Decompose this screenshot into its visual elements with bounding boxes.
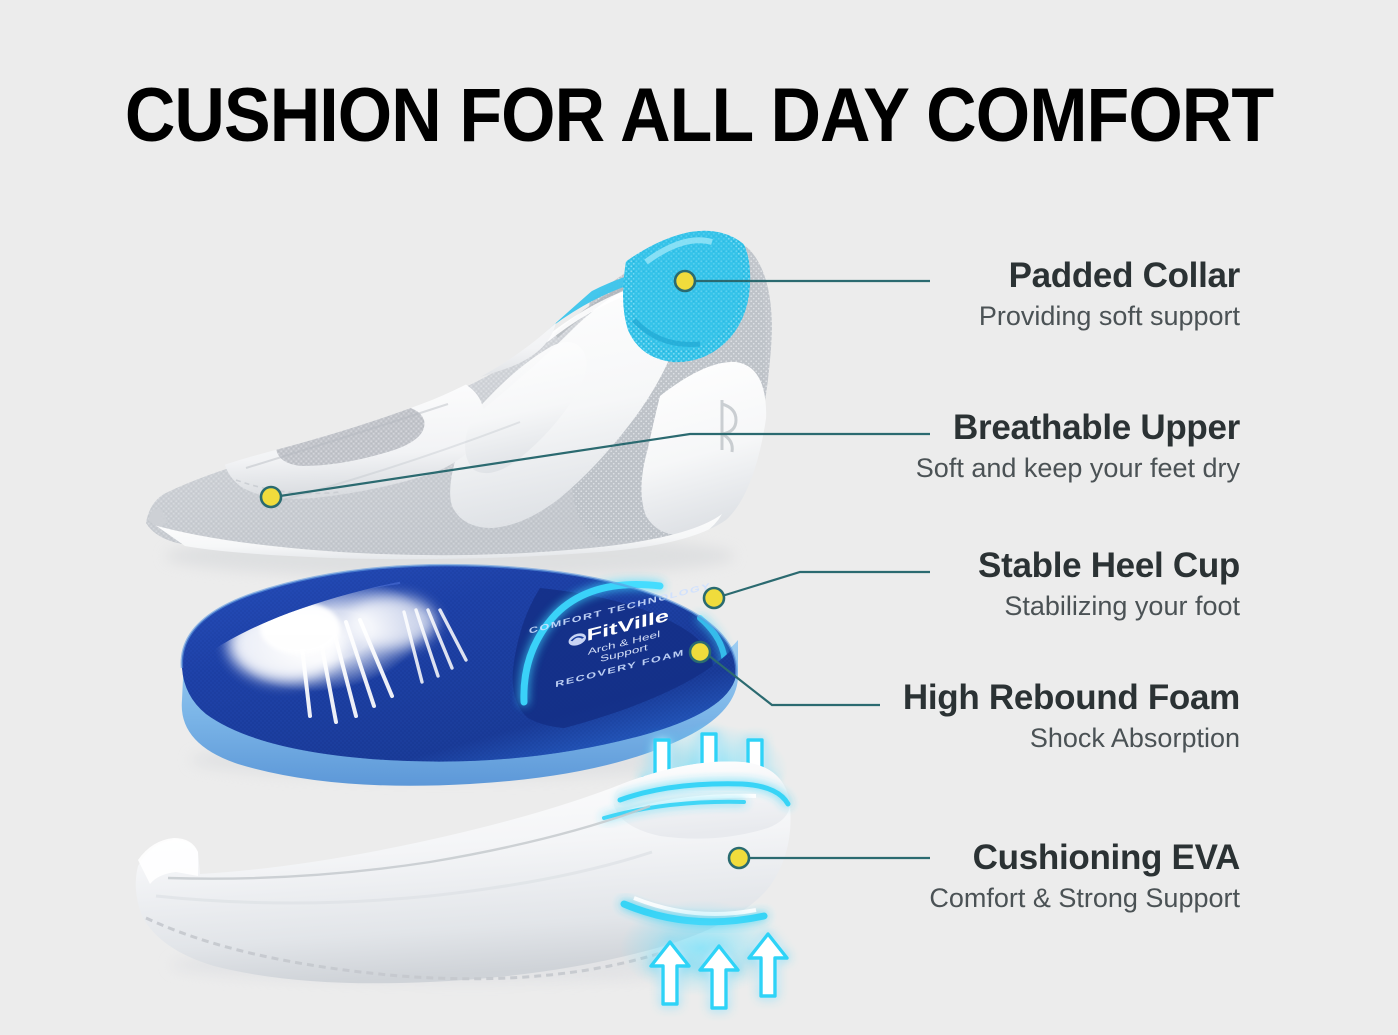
callout-subtitle: Soft and keep your feet dry xyxy=(600,450,1240,486)
callout-title: Padded Collar xyxy=(600,256,1240,296)
callout-subtitle: Shock Absorption xyxy=(600,720,1240,756)
callout-padded-collar: Padded Collar Providing soft support xyxy=(600,256,1240,334)
svg-text:FitVille: FitVille xyxy=(507,235,541,251)
tongue-logo-icon xyxy=(524,216,544,236)
callout-title: Cushioning EVA xyxy=(600,838,1240,878)
callout-high-rebound-foam: High Rebound Foam Shock Absorption xyxy=(600,678,1240,756)
callout-stable-heel-cup: Stable Heel Cup Stabilizing your foot xyxy=(600,546,1240,624)
force-arrows-up xyxy=(651,934,787,1008)
callout-subtitle: Providing soft support xyxy=(600,298,1240,334)
callout-title: High Rebound Foam xyxy=(600,678,1240,718)
callout-subtitle: Stabilizing your foot xyxy=(600,588,1240,624)
callout-title: Breathable Upper xyxy=(600,408,1240,448)
callout-cushioning-eva: Cushioning EVA Comfort & Strong Support xyxy=(600,838,1240,916)
marker-high-rebound-foam xyxy=(690,642,710,662)
callout-subtitle: Comfort & Strong Support xyxy=(600,880,1240,916)
marker-breathable-upper xyxy=(261,487,281,507)
callout-title: Stable Heel Cup xyxy=(600,546,1240,586)
callout-breathable-upper: Breathable Upper Soft and keep your feet… xyxy=(600,408,1240,486)
